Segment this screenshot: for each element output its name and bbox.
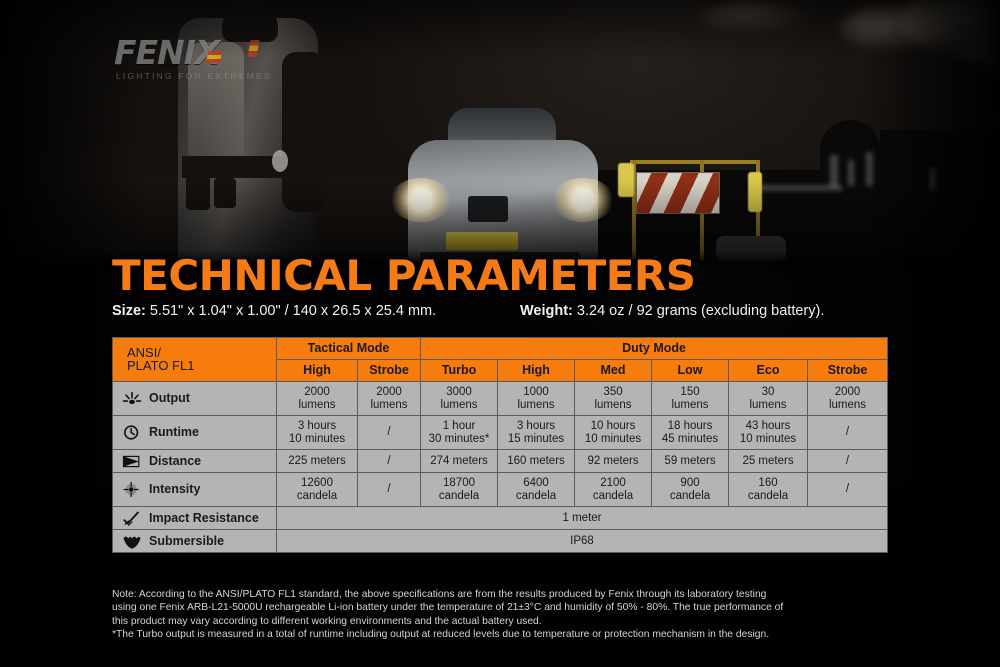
row-label-runtime: Runtime	[113, 416, 277, 450]
officer-silhouette	[178, 18, 318, 262]
barrier-top-rail	[630, 160, 760, 164]
car-roof	[448, 108, 556, 154]
cell-intensity-tactical-strobe: /	[358, 473, 421, 507]
corner-label-cell: ANSI/ PLATO FL1	[113, 338, 277, 382]
cell-runtime-tactical-high: 3 hours10 minutes	[277, 416, 358, 450]
row-label-distance: Distance	[113, 450, 277, 473]
row-label-text: Output	[143, 392, 190, 405]
hero-night-photo	[0, 0, 1000, 667]
cell-runtime-tactical-strobe: /	[358, 416, 421, 450]
cell-intensity-duty-low: 900candela	[652, 473, 729, 507]
cell-output-tactical-high: 2000lumens	[277, 382, 358, 416]
cell-runtime-duty-strobe: /	[808, 416, 888, 450]
cell-impact-resistance-value: 1 meter	[277, 507, 888, 530]
cell-distance-duty-strobe: /	[808, 450, 888, 473]
col-header-tactical-high: High	[277, 360, 358, 382]
footnote-line-1: Note: According to the ANSI/PLATO FL1 st…	[112, 588, 890, 601]
cell-output-duty-eco: 30lumens	[729, 382, 808, 416]
tree-shape	[820, 120, 880, 180]
distant-light	[752, 185, 842, 191]
table-head: ANSI/ PLATO FL1 Tactical Mode Duty Mode …	[113, 338, 888, 382]
officer-shoulder-highlight	[188, 42, 244, 192]
footnote-block: Note: According to the ANSI/PLATO FL1 st…	[112, 588, 890, 641]
officer-head	[222, 0, 278, 42]
cell-runtime-duty-eco: 43 hours10 minutes	[729, 416, 808, 450]
car-headlight-right	[552, 178, 614, 222]
row-label-text: Submersible	[143, 535, 224, 548]
cell-intensity-duty-med: 2100candela	[575, 473, 652, 507]
cell-distance-duty-high: 160 meters	[498, 450, 575, 473]
distant-light	[866, 152, 873, 186]
car-headlight-left	[390, 178, 452, 222]
cell-output-duty-turbo: 3000lumens	[421, 382, 498, 416]
cloud-shape	[840, 4, 960, 52]
row-label-text: Impact Resistance	[143, 512, 259, 525]
footnote-line-4: *The Turbo output is measured in a total…	[112, 628, 890, 641]
row-label-text: Distance	[143, 455, 201, 468]
table-row-submersible: Submersible IP68	[113, 530, 888, 553]
cloud-shape	[900, 0, 1000, 60]
table-row-runtime: Runtime 3 hours10 minutes / 1 hour30 min…	[113, 416, 888, 450]
table-row-distance: Distance 225 meters / 274 meters 160 met…	[113, 450, 888, 473]
cell-distance-tactical-strobe: /	[358, 450, 421, 473]
group-header-duty: Duty Mode	[421, 338, 888, 360]
beam-distance-icon	[121, 453, 143, 470]
tree-shape	[880, 130, 1000, 200]
row-label-intensity: Intensity	[113, 473, 277, 507]
cell-output-duty-med: 350lumens	[575, 382, 652, 416]
cell-runtime-duty-med: 10 hours10 minutes	[575, 416, 652, 450]
cell-distance-duty-med: 92 meters	[575, 450, 652, 473]
barrier-post	[632, 160, 636, 260]
barrier-chevron-panel	[636, 172, 720, 214]
cell-output-tactical-strobe: 2000lumens	[358, 382, 421, 416]
row-label-output: Output	[113, 382, 277, 416]
clock-icon	[121, 424, 143, 441]
table-group-header-row: ANSI/ PLATO FL1 Tactical Mode Duty Mode	[113, 338, 888, 360]
cell-output-duty-strobe: 2000lumens	[808, 382, 888, 416]
cell-distance-duty-eco: 25 meters	[729, 450, 808, 473]
page-title: TECHNICAL PARAMETERS	[112, 255, 696, 297]
cell-distance-tactical-high: 225 meters	[277, 450, 358, 473]
cloud-shape	[700, 0, 810, 34]
cloud-shape	[960, 34, 1000, 74]
corner-label-line2: PLATO FL1	[127, 360, 276, 373]
distant-light	[930, 168, 935, 190]
light-burst-icon	[121, 390, 143, 407]
distant-light	[848, 160, 854, 186]
size-value: 5.51" x 1.04" x 1.00" / 140 x 26.5 x 25.…	[146, 303, 436, 319]
cell-distance-duty-turbo: 274 meters	[421, 450, 498, 473]
col-header-duty-turbo: Turbo	[421, 360, 498, 382]
cell-intensity-tactical-high: 12600candela	[277, 473, 358, 507]
cell-output-duty-high: 1000lumens	[498, 382, 575, 416]
group-header-tactical: Tactical Mode	[277, 338, 421, 360]
col-header-duty-low: Low	[652, 360, 729, 382]
table-row-output: Output 2000lumens 2000lumens 3000lumens …	[113, 382, 888, 416]
row-label-submersible: Submersible	[113, 530, 277, 553]
car-license-plate	[446, 232, 518, 250]
table-row-intensity: Intensity 12600candela / 18700candela 64…	[113, 473, 888, 507]
footnote-line-2: using one Fenix ARB-L21-5000U rechargeab…	[112, 601, 890, 614]
col-header-duty-strobe: Strobe	[808, 360, 888, 382]
size-label: Size:	[112, 303, 146, 319]
barrier-post	[700, 160, 704, 260]
cell-runtime-duty-high: 3 hours15 minutes	[498, 416, 575, 450]
cell-runtime-duty-low: 18 hours45 minutes	[652, 416, 729, 450]
cell-intensity-duty-high: 6400candela	[498, 473, 575, 507]
col-header-duty-eco: Eco	[729, 360, 808, 382]
cell-intensity-duty-turbo: 18700candela	[421, 473, 498, 507]
cell-runtime-duty-turbo: 1 hour30 minutes*	[421, 416, 498, 450]
weight-spec: Weight: 3.24 oz / 92 grams (excluding ba…	[520, 303, 824, 319]
barrier-post	[756, 160, 760, 260]
reflective-vest	[748, 172, 762, 212]
col-header-duty-med: Med	[575, 360, 652, 382]
technical-parameters-table: ANSI/ PLATO FL1 Tactical Mode Duty Mode …	[112, 337, 888, 553]
officer-belt	[182, 156, 310, 178]
col-header-duty-high: High	[498, 360, 575, 382]
distant-light	[830, 155, 838, 187]
size-weight-line: Size: 5.51" x 1.04" x 1.00" / 140 x 26.5…	[112, 303, 892, 323]
crosshair-intensity-icon	[121, 481, 143, 498]
table-body: Output 2000lumens 2000lumens 3000lumens …	[113, 382, 888, 553]
product-spec-page: FENIX LIGHTING FOR EXTREMES TECHNICAL PA…	[0, 0, 1000, 667]
officer-gear-pouch	[214, 178, 236, 208]
water-drop-icon	[121, 533, 143, 550]
car-grille	[468, 196, 508, 222]
car-body	[408, 140, 598, 262]
table-row-impact-resistance: Impact Resistance 1 meter	[113, 507, 888, 530]
footnote-line-3: this product may vary according to diffe…	[112, 615, 890, 628]
cell-output-duty-low: 150lumens	[652, 382, 729, 416]
size-spec: Size: 5.51" x 1.04" x 1.00" / 140 x 26.5…	[112, 303, 436, 319]
weight-value: 3.24 oz / 92 grams (excluding battery).	[573, 303, 824, 319]
officer-badge	[272, 150, 288, 172]
officer-gear-pouch	[186, 176, 210, 210]
impact-hammer-icon	[121, 510, 143, 527]
row-label-text: Intensity	[143, 483, 200, 496]
row-label-impact-resistance: Impact Resistance	[113, 507, 277, 530]
col-header-tactical-strobe: Strobe	[358, 360, 421, 382]
cell-distance-duty-low: 59 meters	[652, 450, 729, 473]
cell-submersible-value: IP68	[277, 530, 888, 553]
reflective-vest	[618, 163, 634, 197]
weight-label: Weight:	[520, 303, 573, 319]
cell-intensity-duty-strobe: /	[808, 473, 888, 507]
roadside-rock	[716, 236, 786, 262]
officer-arm-flag	[248, 40, 260, 57]
officer-extended-arm	[318, 137, 409, 172]
row-label-text: Runtime	[143, 426, 199, 439]
cell-intensity-duty-eco: 160candela	[729, 473, 808, 507]
officer-arm	[282, 52, 326, 212]
